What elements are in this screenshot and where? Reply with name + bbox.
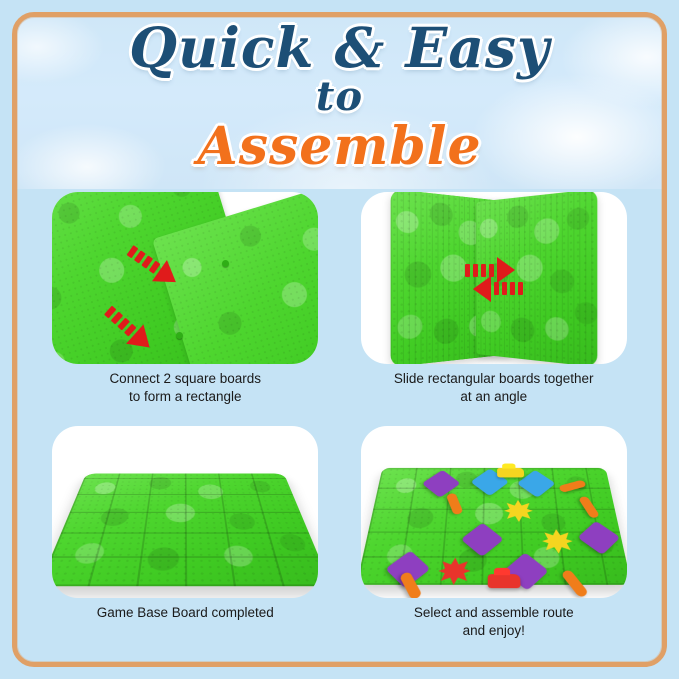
page-title: Quick & Easy to Assemble <box>17 20 662 173</box>
arrow-dash <box>510 282 515 295</box>
arrow-dash <box>502 282 507 295</box>
arrow-head <box>473 276 491 302</box>
caption-line-2: and enjoy! <box>414 622 574 640</box>
step-1-arrows <box>52 192 318 364</box>
caption-line-1: Slide rectangular boards together <box>394 370 594 388</box>
step-3-caption: Game Base Board completed <box>97 604 274 622</box>
caption-line-1: Game Base Board completed <box>97 604 274 622</box>
arrow-dash <box>494 282 499 295</box>
caption-line-2: at an angle <box>394 388 594 406</box>
play-board <box>361 468 627 585</box>
step-3-image-card <box>52 426 318 598</box>
step-2-arrows <box>361 192 627 364</box>
caption-line-1: Connect 2 square boards <box>109 370 261 388</box>
arrow-dash <box>518 282 523 295</box>
completed-base-board <box>52 474 318 587</box>
route-piece-red-car <box>487 574 520 588</box>
title-line-1: Quick & Easy <box>17 20 662 75</box>
board-dots <box>52 474 318 587</box>
caption-line-2: to form a rectangle <box>109 388 261 406</box>
step-select-route: Select and assemble route and enjoy! <box>344 426 645 656</box>
arrow-dash <box>473 264 478 277</box>
step-slide-rectangles: Slide rectangular boards together at an … <box>344 192 645 422</box>
arrow-head <box>497 257 515 283</box>
step-1-caption: Connect 2 square boards to form a rectan… <box>109 370 261 406</box>
step-base-board-complete: Game Base Board completed <box>35 426 336 656</box>
poster: Quick & Easy to Assemble <box>0 0 679 679</box>
title-line-2: to <box>17 77 662 117</box>
step-4-caption: Select and assemble route and enjoy! <box>414 604 574 640</box>
step-2-image-card <box>361 192 627 364</box>
step-1-image-card <box>52 192 318 364</box>
step-connect-squares: Connect 2 square boards to form a rectan… <box>35 192 336 422</box>
caption-line-1: Select and assemble route <box>414 604 574 622</box>
title-line-3: Assemble <box>17 121 662 173</box>
arrow-dash <box>465 264 470 277</box>
step-2-caption: Slide rectangular boards together at an … <box>394 370 594 406</box>
route-piece-yellow-truck <box>497 468 524 478</box>
arrow-dash <box>489 264 494 277</box>
steps-grid: Connect 2 square boards to form a rectan… <box>17 190 662 662</box>
step-4-image-card <box>361 426 627 598</box>
arrow-dash <box>481 264 486 277</box>
